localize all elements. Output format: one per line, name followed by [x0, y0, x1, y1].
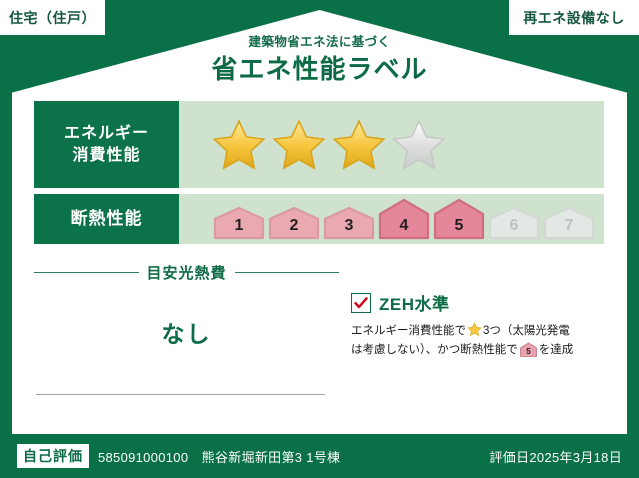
zeh-checkbox	[351, 293, 371, 313]
zeh-desc-part4: を達成	[539, 344, 574, 356]
label-footer: 自己評価 585091000100 熊谷新堀新田第3 1号棟 評価日2025年3…	[0, 434, 639, 478]
tab-renewable-equipment-label: 再エネ設備なし	[523, 8, 625, 28]
tab-building-type-label: 住宅（住戸）	[9, 8, 96, 28]
footer-id-and-name: 585091000100 熊谷新堀新田第3 1号棟	[98, 447, 340, 466]
insulation-level-badge: 1	[213, 206, 265, 240]
evaluation-type-badge: 自己評価	[17, 444, 89, 468]
inline-badge-number: 5	[526, 347, 531, 356]
row-insulation-performance: 断熱性能 1234567	[34, 194, 604, 244]
insulation-level-badge: 7	[543, 206, 595, 240]
inline-insulation-badge-icon: 5	[520, 342, 537, 357]
zeh-desc-part2: 3つ（太陽光発電	[483, 325, 570, 337]
zeh-desc-part3: は考慮しない）、かつ断熱性能で	[351, 344, 518, 356]
row-energy-performance: エネルギー 消費性能	[34, 101, 604, 188]
row-insulation-value: 1234567	[179, 194, 604, 244]
insulation-badge-shape	[323, 206, 375, 240]
utility-cost-block: 目安光熱費 なし	[34, 258, 339, 408]
performance-rows: エネルギー 消費性能 断熱性能 1234567	[34, 101, 604, 250]
rule-left	[34, 272, 139, 273]
insulation-badge-shape	[378, 198, 430, 240]
footer-left-group: 自己評価 585091000100 熊谷新堀新田第3 1号棟	[0, 444, 340, 468]
lower-section: 目安光熱費 なし ZEH水準 エネルギー消費性能で3つ（太陽光発電 は考慮しない…	[34, 258, 606, 408]
utility-cost-header: 目安光熱費	[34, 262, 339, 283]
insulation-badge-shape	[488, 206, 540, 240]
zeh-description: エネルギー消費性能で3つ（太陽光発電 は考慮しない）、かつ断熱性能で5を達成	[351, 322, 606, 360]
insulation-level-badge: 6	[488, 206, 540, 240]
insulation-level-badge: 3	[323, 206, 375, 240]
zeh-desc-part1: エネルギー消費性能で	[351, 325, 466, 337]
row-energy-label-line2: 消費性能	[72, 145, 140, 167]
star-filled-icon	[271, 118, 327, 172]
insulation-badge-shape	[543, 206, 595, 240]
row-insulation-label: 断熱性能	[34, 194, 179, 244]
insulation-badge-shape	[213, 206, 265, 240]
tab-building-type: 住宅（住戸）	[0, 0, 105, 35]
row-energy-label-line1: エネルギー	[64, 123, 149, 145]
row-energy-value	[179, 101, 604, 188]
utility-cost-title: 目安光熱費	[147, 262, 227, 283]
insulation-badge-shape	[268, 206, 320, 240]
zeh-title: ZEH水準	[379, 290, 450, 315]
inline-star-icon	[467, 322, 482, 337]
footer-evaluation-date: 評価日2025年3月18日	[489, 447, 639, 466]
insulation-level-scale: 1234567	[211, 198, 595, 240]
utility-cost-value: なし	[34, 315, 339, 349]
energy-performance-label: 住宅（住戸） 再エネ設備なし 建築物省エネ法に基づく 省エネ性能ラベル エネルギ…	[0, 0, 639, 478]
star-rating	[211, 118, 447, 172]
utility-cost-divider	[36, 394, 325, 395]
row-energy-label: エネルギー 消費性能	[34, 101, 179, 188]
insulation-level-badge: 2	[268, 206, 320, 240]
star-filled-icon	[211, 118, 267, 172]
star-filled-icon	[331, 118, 387, 172]
star-empty-icon	[391, 118, 447, 172]
insulation-level-badge: 5	[433, 198, 485, 240]
insulation-badge-shape	[433, 198, 485, 240]
insulation-level-badge: 4	[378, 198, 430, 240]
zeh-header: ZEH水準	[351, 290, 606, 315]
rule-right	[235, 272, 340, 273]
tab-renewable-equipment: 再エネ設備なし	[509, 0, 639, 35]
zeh-block: ZEH水準 エネルギー消費性能で3つ（太陽光発電 は考慮しない）、かつ断熱性能で…	[339, 258, 606, 408]
row-insulation-label-text: 断熱性能	[71, 208, 143, 231]
